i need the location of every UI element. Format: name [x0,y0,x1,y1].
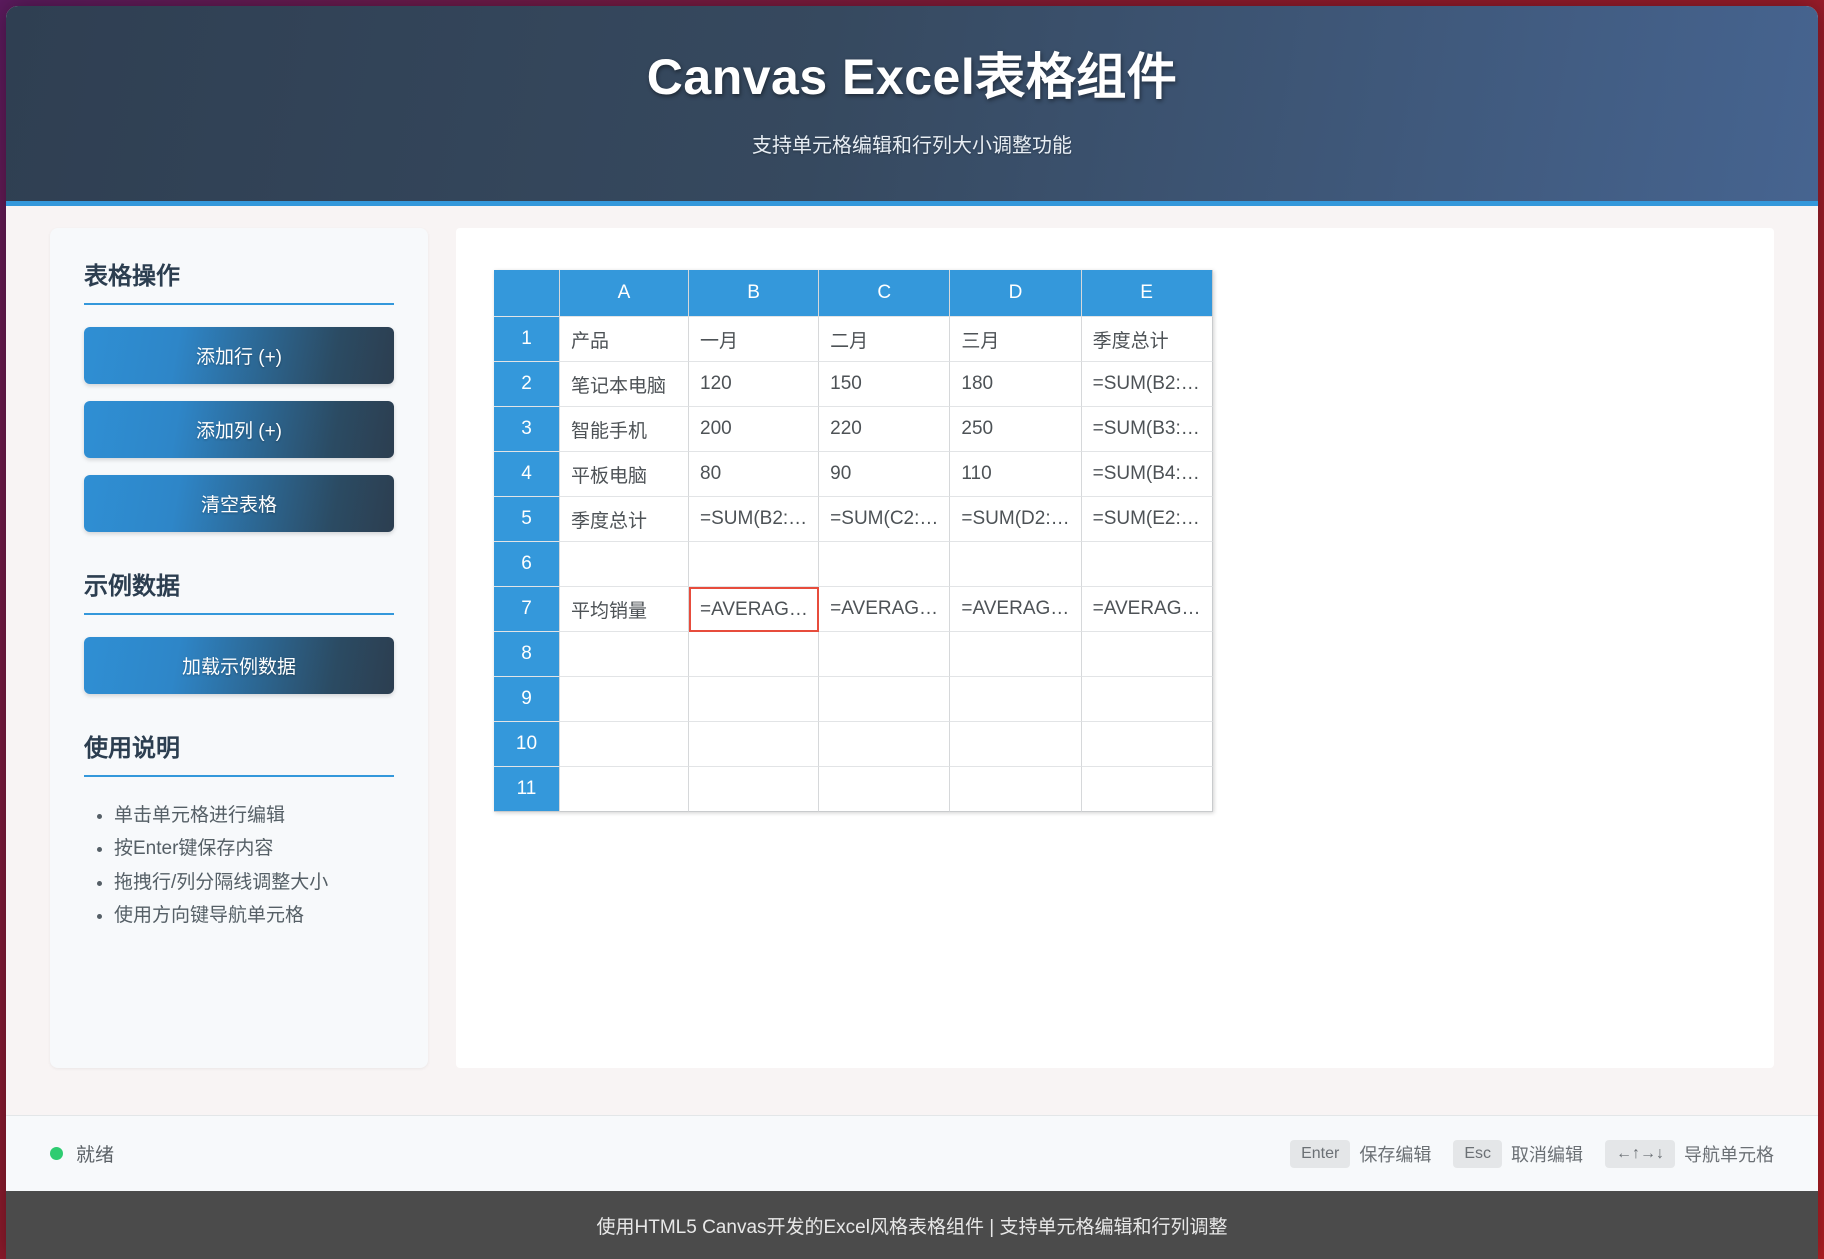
cell-D3[interactable]: 250 [950,407,1081,452]
key-cap: Enter [1290,1140,1350,1168]
cell-E9[interactable] [1082,677,1213,722]
cell-B1[interactable]: 一月 [689,317,819,362]
column-header-e[interactable]: E [1082,270,1213,317]
cell-C6[interactable] [819,542,950,587]
cell-D11[interactable] [950,767,1081,812]
cell-E1[interactable]: 季度总计 [1082,317,1213,362]
cell-C9[interactable] [819,677,950,722]
cell-D6[interactable] [950,542,1081,587]
cell-B11[interactable] [689,767,819,812]
cell-B5[interactable]: =SUM(B2:… [689,497,819,542]
cell-E8[interactable] [1082,632,1213,677]
app-window: Canvas Excel表格组件 支持单元格编辑和行列大小调整功能 表格操作 添… [6,6,1818,1259]
status-dot-icon [50,1147,63,1160]
table-row[interactable]: 5季度总计=SUM(B2:…=SUM(C2:…=SUM(D2:…=SUM(E2:… [494,497,1213,542]
table-row[interactable]: 10 [494,722,1213,767]
keyboard-shortcuts: Enter保存编辑Esc取消编辑←↑→↓导航单元格 [1290,1140,1774,1168]
row-header-1[interactable]: 1 [494,317,560,362]
cell-D4[interactable]: 110 [950,452,1081,497]
cell-C11[interactable] [819,767,950,812]
cell-B2[interactable]: 120 [689,362,819,407]
column-header-b[interactable]: B [689,270,819,317]
shortcut-label: 保存编辑 [1359,1141,1431,1167]
sidebar-section-instructions: 使用说明 单击单元格进行编辑 按Enter键保存内容 拖拽行/列分隔线调整大小 … [84,728,394,933]
status-text: 就绪 [76,1140,114,1167]
add-row-button[interactable]: 添加行 (+) [84,327,394,384]
shortcut-hint: Enter保存编辑 [1290,1140,1431,1168]
table-row[interactable]: 1产品一月二月三月季度总计 [494,317,1213,362]
key-cap: Esc [1453,1140,1502,1168]
cell-E6[interactable] [1082,542,1213,587]
cell-A11[interactable] [560,767,689,812]
table-row[interactable]: 4平板电脑8090110=SUM(B4:… [494,452,1213,497]
cell-B8[interactable] [689,632,819,677]
section-divider [84,775,394,777]
cell-A7[interactable]: 平均销量 [560,587,689,632]
row-header-5[interactable]: 5 [494,497,560,542]
load-sample-data-button[interactable]: 加载示例数据 [84,637,394,694]
column-header-a[interactable]: A [560,270,689,317]
list-item: 按Enter键保存内容 [114,832,394,865]
cell-A10[interactable] [560,722,689,767]
cell-A4[interactable]: 平板电脑 [560,452,689,497]
row-header-3[interactable]: 3 [494,407,560,452]
list-item: 拖拽行/列分隔线调整大小 [114,866,394,899]
app-header: Canvas Excel表格组件 支持单元格编辑和行列大小调整功能 [6,6,1818,206]
table-row[interactable]: 6 [494,542,1213,587]
cell-D2[interactable]: 180 [950,362,1081,407]
instructions-list: 单击单元格进行编辑 按Enter键保存内容 拖拽行/列分隔线调整大小 使用方向键… [114,799,394,933]
cell-C10[interactable] [819,722,950,767]
cell-B3[interactable]: 200 [689,407,819,452]
cell-B6[interactable] [689,542,819,587]
column-header-d[interactable]: D [950,270,1081,317]
cell-B9[interactable] [689,677,819,722]
cell-B4[interactable]: 80 [689,452,819,497]
cell-A3[interactable]: 智能手机 [560,407,689,452]
section-heading-table-actions: 表格操作 [84,256,394,303]
section-divider [84,613,394,615]
table-row[interactable]: 2笔记本电脑120150180=SUM(B2:… [494,362,1213,407]
cell-A8[interactable] [560,632,689,677]
cell-E10[interactable] [1082,722,1213,767]
cell-A2[interactable]: 笔记本电脑 [560,362,689,407]
table-row[interactable]: 9 [494,677,1213,722]
cell-C2[interactable]: 150 [819,362,950,407]
shortcut-label: 导航单元格 [1684,1141,1774,1167]
cell-D1[interactable]: 三月 [950,317,1081,362]
sidebar: 表格操作 添加行 (+) 添加列 (+) 清空表格 示例数据 加载示例数据 使用… [50,228,428,1068]
main-content: 表格操作 添加行 (+) 添加列 (+) 清空表格 示例数据 加载示例数据 使用… [6,206,1818,1115]
cell-selected[interactable]: =AVERAG… [689,587,819,632]
shortcut-hint: Esc取消编辑 [1453,1140,1583,1168]
shortcut-label: 取消编辑 [1511,1141,1583,1167]
status-bar: 就绪 Enter保存编辑Esc取消编辑←↑→↓导航单元格 [6,1115,1818,1191]
row-header-4[interactable]: 4 [494,452,560,497]
table-row[interactable]: 11 [494,767,1213,812]
add-column-button[interactable]: 添加列 (+) [84,401,394,458]
row-header-7[interactable]: 7 [494,587,560,632]
cell-D7[interactable]: =AVERAG… [950,587,1081,632]
table-row[interactable]: 3智能手机200220250=SUM(B3:… [494,407,1213,452]
spreadsheet-canvas[interactable]: ABCDE 1产品一月二月三月季度总计2笔记本电脑120150180=SUM(B… [456,228,1774,1068]
shortcut-hint: ←↑→↓导航单元格 [1605,1140,1774,1168]
sidebar-section-table-actions: 表格操作 添加行 (+) 添加列 (+) 清空表格 [84,256,394,532]
spreadsheet-body[interactable]: 1产品一月二月三月季度总计2笔记本电脑120150180=SUM(B2:…3智能… [494,317,1213,812]
cell-A6[interactable] [560,542,689,587]
cell-E2[interactable]: =SUM(B2:… [1082,362,1213,407]
section-divider [84,303,394,305]
status-indicator-group: 就绪 [50,1140,114,1167]
list-item: 单击单元格进行编辑 [114,799,394,832]
section-heading-instructions: 使用说明 [84,728,394,775]
cell-C7[interactable]: =AVERAG… [819,587,950,632]
row-header-6[interactable]: 6 [494,542,560,587]
clear-table-button[interactable]: 清空表格 [84,475,394,532]
key-cap: ←↑→↓ [1605,1140,1675,1168]
row-header-8[interactable]: 8 [494,632,560,677]
section-heading-sample-data: 示例数据 [84,566,394,613]
cell-A1[interactable]: 产品 [560,317,689,362]
cell-A9[interactable] [560,677,689,722]
table-row[interactable]: 8 [494,632,1213,677]
column-header-row: ABCDE [494,270,1213,317]
page-title: Canvas Excel表格组件 [647,49,1177,107]
page-subtitle: 支持单元格编辑和行列大小调整功能 [752,129,1072,158]
cell-C4[interactable]: 90 [819,452,950,497]
cell-D5[interactable]: =SUM(D2:… [950,497,1081,542]
list-item: 使用方向键导航单元格 [114,899,394,932]
cell-D10[interactable] [950,722,1081,767]
spreadsheet-grid[interactable]: ABCDE 1产品一月二月三月季度总计2笔记本电脑120150180=SUM(B… [494,270,1213,812]
cell-C3[interactable]: 220 [819,407,950,452]
select-all-corner[interactable] [494,270,560,317]
sidebar-section-sample-data: 示例数据 加载示例数据 [84,566,394,694]
cell-E7[interactable]: =AVERAG… [1082,587,1213,632]
row-header-11[interactable]: 11 [494,767,560,812]
cell-D9[interactable] [950,677,1081,722]
column-header-c[interactable]: C [819,270,950,317]
cell-E11[interactable] [1082,767,1213,812]
cell-E3[interactable]: =SUM(B3:… [1082,407,1213,452]
app-footer: 使用HTML5 Canvas开发的Excel风格表格组件 | 支持单元格编辑和行… [6,1191,1818,1259]
cell-E4[interactable]: =SUM(B4:… [1082,452,1213,497]
cell-B10[interactable] [689,722,819,767]
cell-A5[interactable]: 季度总计 [560,497,689,542]
cell-C1[interactable]: 二月 [819,317,950,362]
row-header-10[interactable]: 10 [494,722,560,767]
row-header-9[interactable]: 9 [494,677,560,722]
cell-D8[interactable] [950,632,1081,677]
cell-C8[interactable] [819,632,950,677]
cell-C5[interactable]: =SUM(C2:… [819,497,950,542]
cell-E5[interactable]: =SUM(E2:… [1082,497,1213,542]
footer-text: 使用HTML5 Canvas开发的Excel风格表格组件 | 支持单元格编辑和行… [597,1212,1228,1239]
row-header-2[interactable]: 2 [494,362,560,407]
table-row[interactable]: 7平均销量=AVERAG…=AVERAG…=AVERAG…=AVERAG… [494,587,1213,632]
column-header-row: ABCDE [494,270,1213,317]
